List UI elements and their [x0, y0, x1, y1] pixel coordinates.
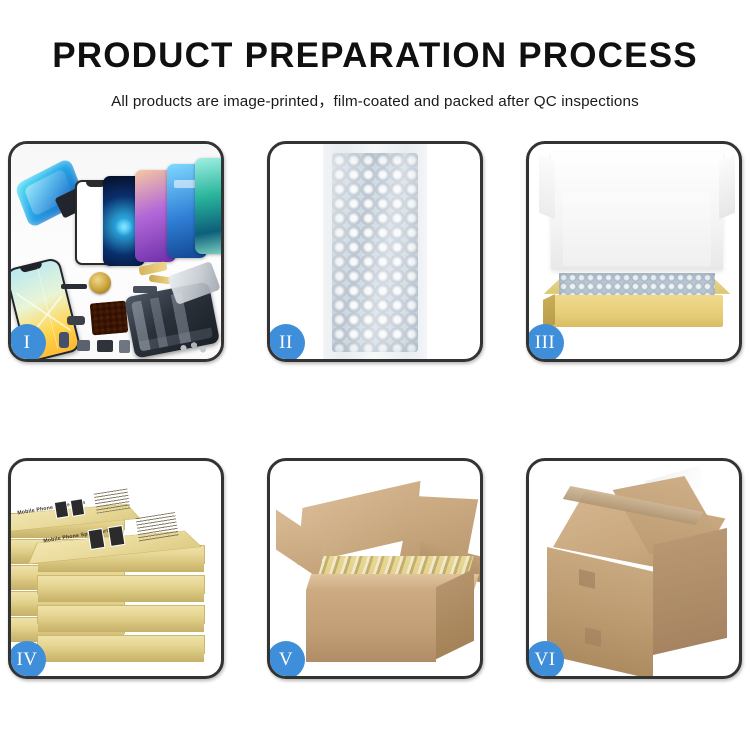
stacked-box	[37, 575, 205, 594]
stacked-box	[37, 635, 205, 654]
box-stack-group: Mobile Phone Spare Parts Mobile Phone Sp…	[11, 471, 221, 671]
step-6-image	[529, 461, 739, 676]
box-art-screen	[108, 525, 126, 547]
step-panel-3: III	[526, 141, 742, 362]
carton-seam-mark	[585, 627, 601, 647]
header: PRODUCT PREPARATION PROCESS All products…	[0, 0, 750, 111]
button-part-icon	[119, 340, 130, 353]
step-badge-6: VI	[526, 641, 564, 679]
step-1-image	[11, 144, 221, 359]
box-art-screen	[88, 528, 106, 550]
foam-insert-icon	[563, 192, 711, 266]
sim-tray-icon	[59, 332, 69, 348]
speaker-part-icon	[77, 340, 90, 351]
step-panel-5: V	[267, 458, 483, 679]
carton-front-face	[306, 590, 436, 662]
page-subtitle: All products are image-printed，film-coat…	[0, 89, 750, 111]
step-badge-3: III	[526, 324, 564, 362]
plastic-sheen	[332, 153, 418, 352]
step-badge-4: IV	[8, 641, 46, 679]
box-art-screen	[54, 500, 69, 519]
screw-mat-icon	[90, 300, 129, 335]
step-badge-5: V	[267, 641, 305, 679]
box-art-screen	[70, 498, 85, 517]
process-steps-grid: I II III	[8, 141, 742, 679]
step-3-image	[529, 144, 739, 359]
step-panel-2: II	[267, 141, 483, 362]
stacked-box	[37, 605, 205, 624]
step-badge-2: II	[267, 324, 305, 362]
step-4-image: Mobile Phone Spare Parts Mobile Phone Sp…	[11, 461, 221, 676]
step-panel-6: VI	[526, 458, 742, 679]
step-2-image	[270, 144, 480, 359]
page-title: PRODUCT PREPARATION PROCESS	[0, 36, 750, 76]
tray-front-face	[551, 295, 723, 327]
camera-module-icon	[97, 340, 113, 352]
phone-teal-icon	[195, 158, 221, 254]
sealed-carton-right-face	[653, 528, 727, 655]
screws-icon	[179, 341, 209, 355]
step-badge-1: I	[8, 324, 46, 362]
step-panel-4: Mobile Phone Spare Parts Mobile Phone Sp…	[8, 458, 224, 679]
step-panel-1: I	[8, 141, 224, 362]
copper-coil-icon	[89, 272, 111, 294]
step-5-image	[270, 461, 480, 676]
connector-part-icon	[67, 316, 85, 325]
phone-fan-group	[75, 158, 221, 270]
earpiece-mesh-icon	[61, 284, 87, 289]
infographic-page: PRODUCT PREPARATION PROCESS All products…	[0, 0, 750, 750]
carton-hand-hole	[579, 569, 595, 589]
